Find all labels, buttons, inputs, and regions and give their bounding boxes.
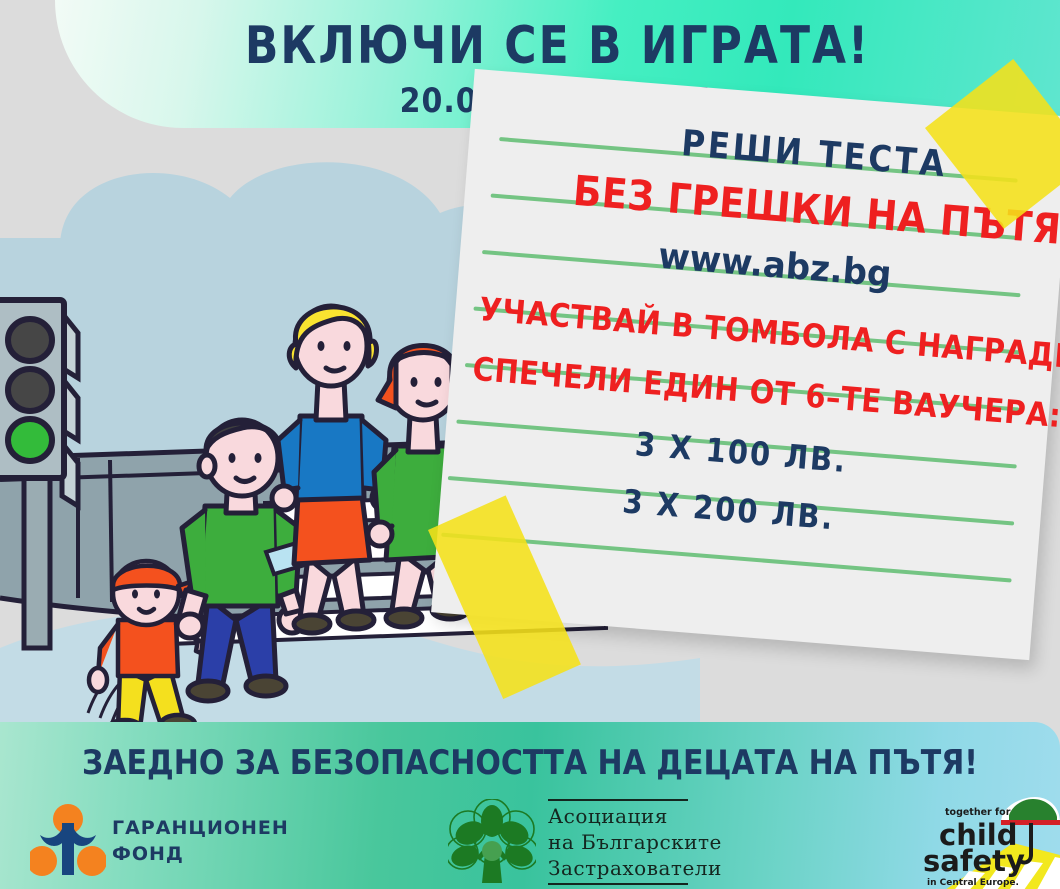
abz-name: Асоциация на Българските Застрахователи	[548, 803, 722, 881]
cs-line-together: together for	[945, 807, 1011, 818]
abz-line-1: Асоциация	[548, 803, 722, 829]
cs-line-region: in Central Europe.	[927, 878, 1019, 888]
guarantee-fund-name: ГАРАНЦИОНЕН ФОНД	[112, 815, 289, 867]
note-line-voucher-100: 3 X 100 ЛВ.	[634, 425, 849, 480]
page-title: ВКЛЮЧИ СЕ В ИГРАТА!	[55, 16, 1060, 76]
abz-tree-logo-icon	[448, 799, 536, 889]
abz-line-2: на Българските	[548, 829, 722, 855]
child-safety-logo-icon: together for child safety in Central Eur…	[905, 793, 1060, 889]
traffic-light-green	[8, 419, 52, 461]
abz-line-3: Застрахователи	[548, 855, 722, 881]
gf-line-1: ГАРАНЦИОНЕН	[112, 815, 289, 841]
poster-root: ВКЛЮЧИ СЕ В ИГРАТА! 20.09–22.10.2021 РЕШ…	[0, 0, 1060, 889]
note-line-reshi-testa: РЕШИ ТЕСТА	[680, 121, 949, 185]
logo-strip: ГАРАНЦИОНЕН ФОНД	[0, 797, 1060, 889]
abz-rule-top	[548, 799, 688, 801]
cs-line-safety: safety	[923, 844, 1025, 878]
gf-line-2: ФОНД	[112, 841, 289, 867]
note-line-website: www.abz.bg	[657, 235, 893, 296]
footer-banner: ЗАЕДНО ЗА БЕЗОПАСНОСТТА НА ДЕЦАТА НА ПЪТ…	[0, 722, 1060, 889]
footer-slogan: ЗАЕДНО ЗА БЕЗОПАСНОСТТА НА ДЕЦАТА НА ПЪТ…	[0, 744, 1060, 783]
traffic-light-red	[8, 319, 52, 361]
guarantee-fund-logo-icon	[30, 803, 106, 884]
note-line-voucher-200: 3 X 200 ЛВ.	[621, 482, 836, 537]
traffic-light-yellow	[8, 369, 52, 411]
abz-rule-bottom	[548, 883, 688, 885]
